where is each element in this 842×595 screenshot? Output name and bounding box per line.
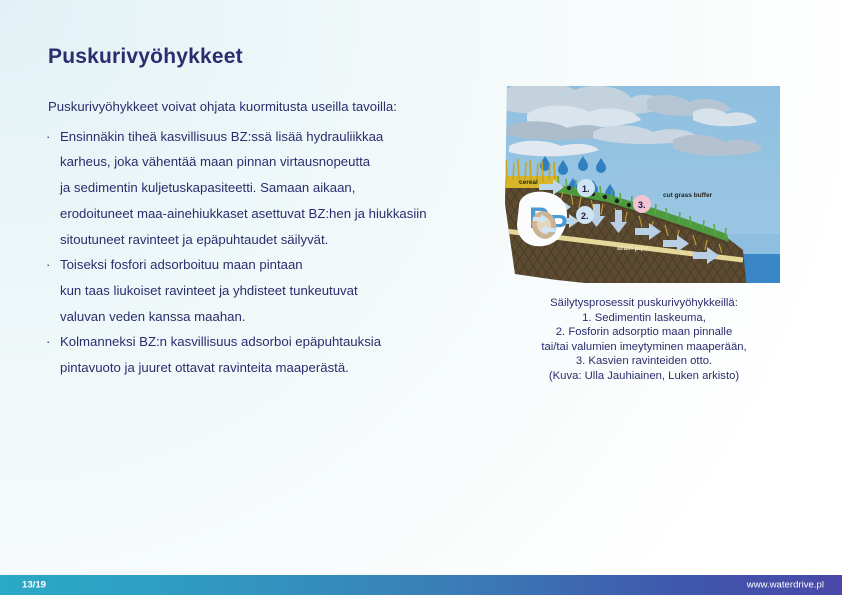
bullet-line: sitoutuneet ravinteet ja epäpuhtaudet sä… (60, 227, 466, 253)
footer-bar: 13/19 www.waterdrive.pl (0, 575, 842, 595)
bullet-line: Ensinnäkin tiheä kasvillisuus BZ:ssä lis… (60, 124, 466, 150)
drain-pipe-label: drain pipe (617, 245, 648, 252)
bullet-line: ja sedimentin kuljetuskapasiteetti. Sama… (60, 175, 466, 201)
body-text: Puskurivyöhykkeet voivat ohjata kuormitu… (46, 94, 466, 381)
figure-caption: Säilytysprosessit puskurivyöhykkeillä: 1… (497, 296, 791, 384)
marker-3: 3. (633, 195, 651, 213)
cereal-label: cereal (519, 179, 538, 186)
bullet-line: valuvan veden kanssa maahan. (60, 304, 466, 330)
page-title: Puskurivyöhykkeet (48, 45, 243, 69)
bullet-line: Kolmanneksi BZ:n kasvillisuus adsorboi e… (60, 329, 466, 355)
caption-line: (Kuva: Ulla Jauhiainen, Luken arkisto) (497, 369, 791, 384)
diagram-svg: P P 1. 2. (497, 84, 791, 288)
bullet-line: kun taas liukoiset ravinteet ja yhdistee… (60, 278, 466, 304)
caption-line: tai/tai valumien imeytyminen maaperään, (497, 340, 791, 355)
bullet-item-1: · Ensinnäkin tiheä kasvillisuus BZ:ssä l… (46, 124, 466, 253)
bullet-line: erodoituneet maa-ainehiukkaset asettuvat… (60, 201, 466, 227)
page-number: 13/19 (22, 580, 46, 591)
lead-paragraph: Puskurivyöhykkeet voivat ohjata kuormitu… (46, 94, 466, 120)
bullet-marker-icon: · (46, 252, 50, 278)
diagram-content: P P 1. 2. (497, 84, 791, 288)
caption-line: Säilytysprosessit puskurivyöhykkeillä: (497, 296, 791, 311)
phosphorus-adsorption-inset: P P (517, 192, 568, 247)
caption-line: 3. Kasvien ravinteiden otto. (497, 354, 791, 369)
bullet-line: pintavuoto ja juuret ottavat ravinteita … (60, 355, 466, 381)
marker-2-label: 2. (581, 211, 589, 221)
buffer-zone-diagram-image: P P 1. 2. (497, 84, 791, 288)
slide: Puskurivyöhykkeet Puskurivyöhykkeet voiv… (0, 0, 842, 595)
bullet-line: karheus, joka vähentää maan pinnan virta… (60, 149, 466, 175)
bullet-line: Toiseksi fosfori adsorboituu maan pintaa… (60, 252, 466, 278)
bullet-marker-icon: · (46, 329, 50, 355)
bullet-item-2: · Toiseksi fosfori adsorboituu maan pint… (46, 252, 466, 329)
marker-3-label: 3. (638, 200, 646, 210)
marker-1-label: 1. (582, 184, 590, 194)
marker-2: 2. (576, 206, 594, 224)
caption-line: 1. Sedimentin laskeuma, (497, 311, 791, 326)
cut-grass-buffer-label: cut grass buffer (663, 192, 713, 199)
caption-line: 2. Fosforin adsorptio maan pinnalle (497, 325, 791, 340)
bullet-marker-icon: · (46, 124, 50, 150)
website-link[interactable]: www.waterdrive.pl (747, 580, 824, 591)
marker-1: 1. (577, 179, 595, 197)
bullet-item-3: · Kolmanneksi BZ:n kasvillisuus adsorboi… (46, 329, 466, 380)
